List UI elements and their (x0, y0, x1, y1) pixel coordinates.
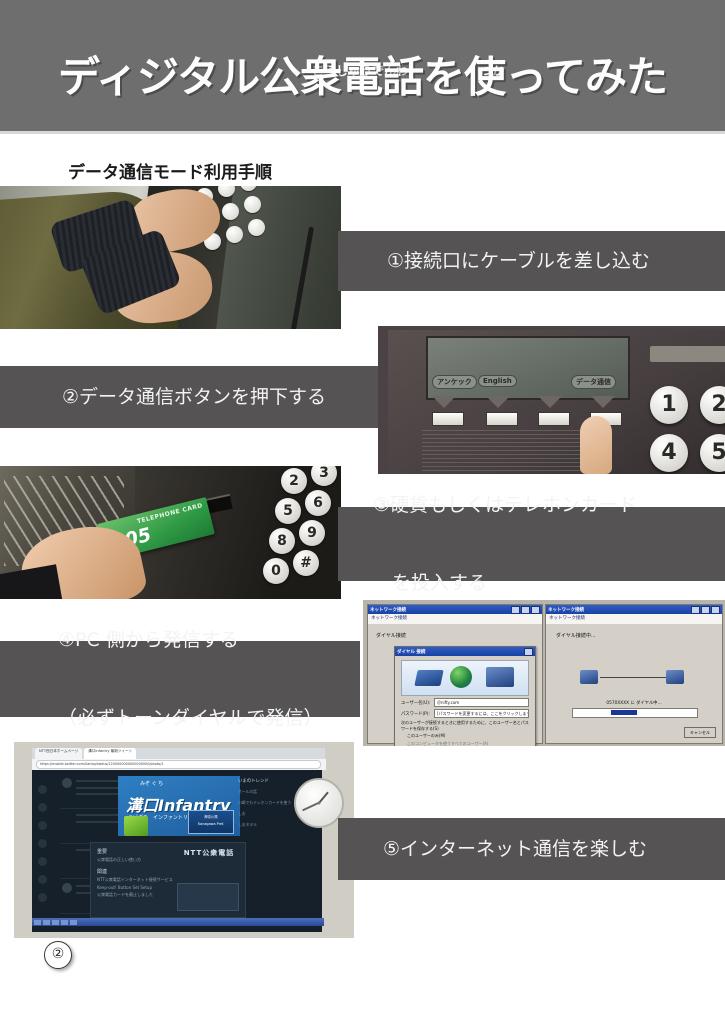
poster-page: こうしゅうでんわ つか ディジタル公衆電話を使ってみた データ通信モード利用手順 (0, 0, 725, 1024)
window-right-controls[interactable] (691, 606, 720, 614)
browser-tabstrip: NTT西日本ホームページ 溝口Infantry 最新ツイート (32, 748, 325, 759)
username-input[interactable]: ＠nifty.com (434, 698, 529, 707)
photo3-key-b: 3 (311, 466, 337, 486)
dialog-title: ダイヤル 接続 (397, 649, 425, 655)
header-title-area: こうしゅうでんわ つか ディジタル公衆電話を使ってみた (0, 0, 725, 131)
caption-step-5: ⑤インターネット通信を楽しむ (338, 818, 725, 880)
header-divider (0, 131, 725, 134)
browser-content: 重要 公衆電話の正しい使い方 関連 NTT公衆電話インターネット接続サービス K… (32, 770, 322, 926)
caption-step-5-line-1: ⑤インターネット通信を楽しむ (383, 836, 647, 862)
photo3-key-a: 2 (281, 468, 307, 494)
window-left-controls[interactable] (511, 606, 540, 614)
caption-step-3-line-1: ③硬貨もしくはテレホンカード (373, 492, 637, 518)
dialog-username-row: ユーザー名(U): ＠nifty.com (401, 698, 529, 707)
photo-browser-twitter: NTT西日本ホームページ 溝口Infantry 最新ツイート https://m… (14, 742, 354, 938)
caption-step-4: ④PC 側から発信する （必ずトーンダイヤルで発信） (0, 641, 360, 717)
photo2-braille-plate (650, 346, 725, 362)
photo2-soft-button-3 (538, 412, 570, 426)
photo-dialup-dialogs: ネットワーク接続 ネットワーク接続 ダイヤル接続 ダイヤル 接続 (363, 600, 725, 746)
photo2-arrow-2-icon (486, 396, 510, 408)
caption-step-4-line-1: ④PC 側から発信する (58, 627, 322, 653)
browser-toolbar: https://mobile.twitter.com/0anbo/status/… (32, 759, 326, 770)
tweet-image-card: 重要 公衆電話の正しい使い方 関連 NTT公衆電話インターネット接続サービス K… (90, 842, 246, 918)
caption-step-1: ①接続口にケーブルを差し込む (338, 231, 725, 291)
browser-tab-2[interactable]: 溝口Infantry 最新ツイート (84, 748, 136, 759)
avatar (62, 778, 72, 788)
photo2-lcd-label-2: English (478, 375, 517, 387)
analog-clock-widget (294, 778, 344, 828)
page-number: ② (44, 941, 72, 969)
photo-cable-insert (0, 186, 341, 329)
section-subtitle: データ通信モード利用手順 (68, 158, 272, 183)
photo2-key-1: 1 (650, 386, 688, 424)
photo3-key-c: 5 (275, 498, 301, 524)
browser-window: NTT西日本ホームページ 溝口Infantry 最新ツイート https://m… (32, 748, 322, 932)
dialog-close-icon[interactable] (524, 648, 533, 656)
twitter-nav-rail[interactable] (38, 776, 54, 924)
dialing-cancel-button[interactable]: キャンセル (684, 727, 716, 738)
window-right-body: ダイヤル接続中... 0570XXXX に ダイヤル中... キャンセル (546, 624, 722, 743)
photo2-lcd-label-3: データ通信 (571, 375, 616, 389)
photo2-key-4: 4 (650, 434, 688, 472)
monitor-icon (486, 667, 514, 687)
password-input[interactable]: [パスワードを変更するには、ここをクリックします] (434, 709, 529, 718)
remote-server-icon (666, 670, 684, 684)
road-sign-line-2: Kanagawa Pref. (189, 822, 233, 826)
windows-taskbar[interactable] (32, 918, 324, 926)
window-left-title: ネットワーク接続 (370, 607, 406, 613)
connection-line (600, 677, 666, 678)
photo2-arrow-3-icon (538, 396, 562, 408)
address-bar[interactable]: https://mobile.twitter.com/0anbo/status/… (36, 760, 321, 769)
caption-step-3-line-2: を投入する (373, 570, 637, 596)
window-network-connections: ネットワーク接続 ネットワーク接続 ダイヤル接続 ダイヤル 接続 (367, 604, 543, 744)
caption-step-2: ②データ通信ボタンを押下する (0, 366, 379, 428)
window-left-body-label: ダイヤル接続 (376, 632, 406, 639)
dialing-status-label: ダイヤル接続中... (556, 632, 596, 639)
caption-step-4-line-2: （必ずトーンダイヤルで発信） (58, 705, 322, 731)
card-heading-2: 関連 (97, 868, 245, 875)
caption-step-1-line-1: ①接続口にケーブルを差し込む (387, 248, 650, 274)
username-label: ユーザー名(U): (401, 700, 431, 706)
caption-step-2-line-1: ②データ通信ボタンを押下する (62, 384, 326, 410)
dialing-progress-bar (572, 708, 698, 718)
window-right-titlebar: ネットワーク接続 (546, 605, 722, 614)
window-right-title: ネットワーク接続 (548, 607, 584, 613)
dialog-illustration (401, 660, 529, 696)
photo3-key-e: 8 (269, 528, 295, 554)
window-left-body: ダイヤル接続 ダイヤル 接続 ユーザー名(U): ＠nifty.com (368, 624, 542, 743)
photo3-key-d: 6 (305, 490, 331, 516)
photo2-lcd (426, 336, 630, 400)
dialog-titlebar: ダイヤル 接続 (395, 647, 535, 656)
photo2-lcd-label-1: アンケック (432, 375, 477, 389)
photo2-arrow-4-icon (591, 396, 615, 408)
dialing-progress-text: 0570XXXX に ダイヤル中... (582, 700, 686, 706)
mizoguchi-infantry-banner: みぞ ぐ ち 溝口Infantry ミゾグチ インファントリー 神奈川県 Kan… (118, 776, 240, 836)
banner-furigana-top: みぞ ぐ ち (140, 780, 163, 787)
laptop-icon (414, 670, 443, 686)
caption-step-3: ③硬貨もしくはテレホンカード を投入する (338, 507, 725, 581)
avatar (62, 883, 72, 893)
ntt-logo-text: NTT公衆電話 (179, 848, 239, 862)
dialog-password-row: パスワード(P): [パスワードを変更するには、ここをクリックします] (401, 709, 529, 718)
save-credentials-checkbox[interactable]: 次のユーザーが接続するときに使用するために、このユーザー名とパスワードを保存する… (401, 720, 529, 731)
page-title: ディジタル公衆電話を使ってみた (58, 44, 667, 105)
radio-this-user[interactable]: このユーザーのみ(M) (407, 733, 529, 739)
card-phone-image (177, 883, 239, 911)
photo2-arrow-1-icon (432, 396, 456, 408)
photo3-key-f: 9 (299, 520, 325, 546)
banner-green-object (124, 816, 148, 836)
photo2-key-5: 5 (700, 434, 725, 472)
password-label: パスワード(P): (401, 711, 431, 717)
road-sign-line-1: 神奈川県 (189, 814, 233, 819)
banner-road-sign: 神奈川県 Kanagawa Pref. (188, 810, 234, 834)
dialog-dialup-connect: ダイヤル 接続 ユーザー名(U): ＠nifty.com パスワード(P): (394, 646, 536, 746)
photo2-soft-button-1 (432, 412, 464, 426)
browser-tab-1[interactable]: NTT西日本ホームページ (35, 748, 82, 759)
window-left-titlebar: ネットワーク接続 (368, 605, 542, 614)
local-computer-icon (580, 670, 598, 684)
photo2-soft-button-2 (486, 412, 518, 426)
globe-icon (450, 666, 472, 688)
radio-all-users[interactable]: このコンピュータを使うすべてのユーザー(A) (407, 741, 529, 747)
photo2-key-2: 2 (700, 386, 725, 424)
window-dialing-progress: ネットワーク接続 ネットワーク接続 ダイヤル接続中... 0570XXXX に … (545, 604, 723, 744)
photo3-key-h: # (293, 550, 319, 576)
